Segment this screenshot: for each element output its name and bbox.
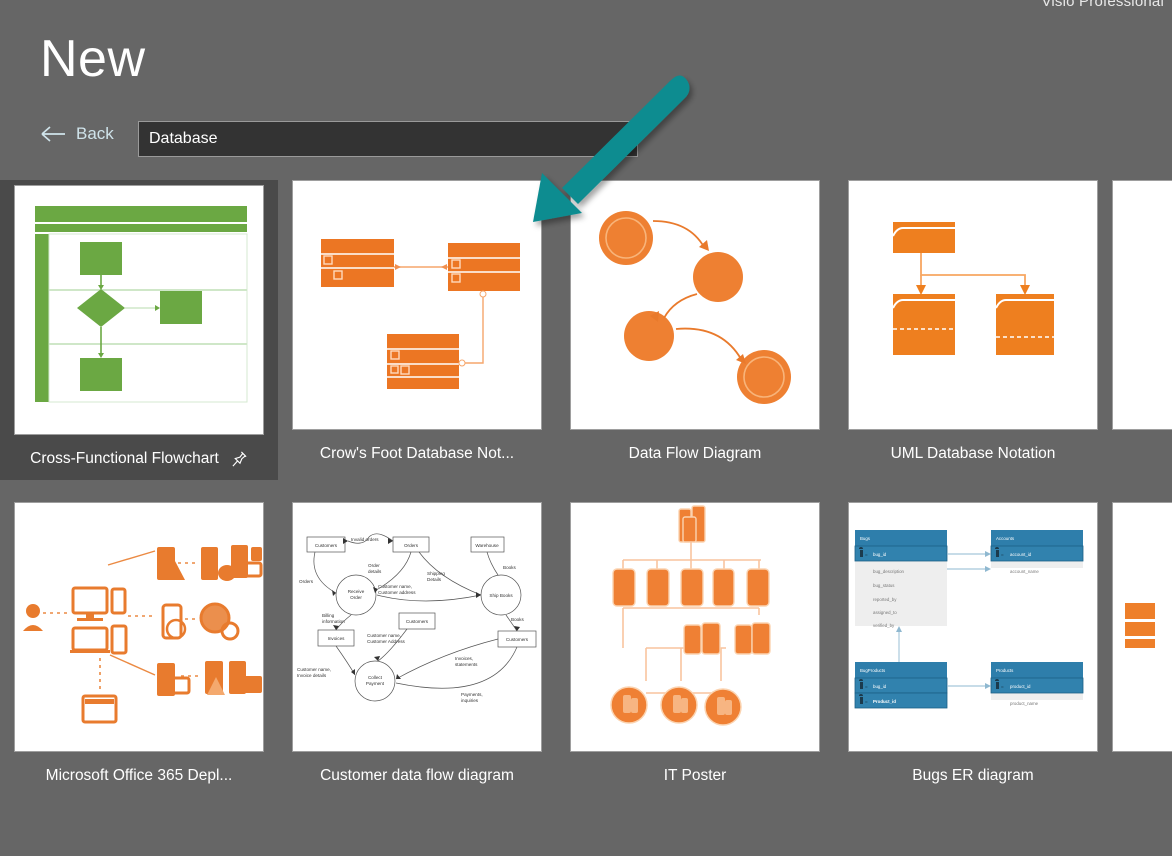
svg-text:Customers: Customers bbox=[406, 619, 429, 624]
svg-text:Shipping: Shipping bbox=[427, 571, 445, 576]
svg-text:Collect: Collect bbox=[368, 675, 383, 680]
svg-text:Customer address: Customer address bbox=[378, 590, 416, 595]
svg-text:account_id: account_id bbox=[1010, 552, 1032, 557]
svg-text:Books: Books bbox=[503, 565, 516, 570]
template-card-crows-foot-database-notation[interactable]: Crow's Foot Database Not... bbox=[278, 180, 556, 480]
svg-text:Customer name,: Customer name, bbox=[297, 667, 331, 672]
template-caption: Customer data flow diagram bbox=[320, 767, 514, 785]
svg-text:assigned_to: assigned_to bbox=[873, 610, 897, 615]
template-card-partial-row1[interactable] bbox=[1112, 180, 1172, 480]
template-card-it-poster[interactable]: IT Poster bbox=[556, 502, 834, 785]
template-card-customer-data-flow-diagram[interactable]: Customers Orders Warehouse Customers Inv… bbox=[278, 502, 556, 785]
template-card-uml-database-notation[interactable]: UML Database Notation bbox=[834, 180, 1112, 480]
svg-text:Orders: Orders bbox=[404, 543, 419, 548]
template-label: UML Database Notation bbox=[891, 445, 1056, 463]
search-input[interactable] bbox=[149, 130, 627, 148]
svg-text:inquiries: inquiries bbox=[461, 698, 479, 703]
template-label: IT Poster bbox=[664, 767, 727, 785]
template-label: Cross-Functional Flowchart bbox=[30, 450, 219, 468]
template-card-microsoft-office-365-deployment[interactable]: Microsoft Office 365 Depl... bbox=[0, 502, 278, 785]
svg-text:Invoices,: Invoices, bbox=[455, 656, 473, 661]
svg-text:Details: Details bbox=[427, 577, 442, 582]
svg-text:Invoice details: Invoice details bbox=[297, 673, 327, 678]
template-caption: IT Poster bbox=[664, 767, 727, 785]
pin-icon[interactable] bbox=[231, 451, 248, 468]
svg-text:∞: ∞ bbox=[865, 553, 868, 557]
svg-text:Books: Books bbox=[511, 617, 524, 622]
svg-text:Payments,: Payments, bbox=[461, 692, 483, 697]
cross-functional-flowchart-thumb bbox=[14, 185, 264, 435]
template-caption: Data Flow Diagram bbox=[629, 445, 762, 463]
uml-database-thumb bbox=[848, 180, 1098, 430]
app-label: Visio Professional bbox=[1041, 0, 1164, 10]
svg-text:Order: Order bbox=[350, 595, 362, 600]
template-label: Bugs ER diagram bbox=[912, 767, 1033, 785]
svg-text:bug_description: bug_description bbox=[873, 569, 905, 574]
office365-thumb bbox=[14, 502, 264, 752]
svg-text:Customers: Customers bbox=[506, 637, 529, 642]
svg-text:Product_id: Product_id bbox=[873, 699, 896, 704]
template-row-1: Cross-Functional Flowchart bbox=[0, 180, 1172, 480]
svg-text:bug_status: bug_status bbox=[873, 583, 895, 588]
template-label: Microsoft Office 365 Depl... bbox=[46, 767, 233, 785]
template-card-partial-row2[interactable] bbox=[1112, 502, 1172, 785]
arrow-left-icon bbox=[40, 124, 66, 144]
customer-data-flow-thumb: Customers Orders Warehouse Customers Inv… bbox=[292, 502, 542, 752]
template-row-2: Microsoft Office 365 Depl... bbox=[0, 502, 1172, 785]
bugs-er-thumb: Bugs bug_id bug_description bug_status r… bbox=[848, 502, 1098, 752]
svg-text:details: details bbox=[368, 569, 382, 574]
svg-text:Customer Address: Customer Address bbox=[367, 639, 405, 644]
template-label: Crow's Foot Database Not... bbox=[320, 445, 514, 463]
template-grid: Cross-Functional Flowchart bbox=[0, 180, 1172, 785]
svg-text:Ship Books: Ship Books bbox=[489, 593, 513, 598]
template-card-cross-functional-flowchart[interactable]: Cross-Functional Flowchart bbox=[0, 180, 278, 480]
template-caption: Cross-Functional Flowchart bbox=[30, 450, 248, 468]
it-poster-thumb bbox=[570, 502, 820, 752]
svg-text:bug_id: bug_id bbox=[873, 552, 887, 557]
svg-text:bug_id: bug_id bbox=[873, 684, 887, 689]
template-caption: Microsoft Office 365 Depl... bbox=[46, 767, 233, 785]
svg-text:product_name: product_name bbox=[1010, 701, 1039, 706]
svg-text:Customers: Customers bbox=[315, 543, 338, 548]
template-label: Data Flow Diagram bbox=[629, 445, 762, 463]
svg-text:Receive: Receive bbox=[348, 589, 365, 594]
back-label: Back bbox=[76, 124, 114, 144]
svg-text:Products: Products bbox=[996, 668, 1014, 673]
svg-text:verified_by: verified_by bbox=[873, 623, 895, 628]
svg-text:BugProducts: BugProducts bbox=[860, 668, 886, 673]
data-flow-thumb bbox=[570, 180, 820, 430]
svg-text:∞: ∞ bbox=[865, 685, 868, 689]
search-box[interactable] bbox=[138, 121, 638, 157]
svg-text:Warehouse: Warehouse bbox=[475, 543, 499, 548]
template-caption: UML Database Notation bbox=[891, 445, 1056, 463]
svg-text:product_id: product_id bbox=[1010, 684, 1031, 689]
svg-text:Orders: Orders bbox=[299, 579, 314, 584]
svg-text:Accounts: Accounts bbox=[996, 536, 1015, 541]
crows-foot-thumb bbox=[292, 180, 542, 430]
svg-text:Billing: Billing bbox=[322, 613, 335, 618]
svg-text:∞: ∞ bbox=[1001, 553, 1004, 557]
svg-text:∞: ∞ bbox=[865, 700, 868, 704]
partial-thumb-row1 bbox=[1112, 180, 1172, 430]
svg-text:statements: statements bbox=[455, 662, 478, 667]
partial-thumb-row2 bbox=[1112, 502, 1172, 752]
svg-text:Customer name,: Customer name, bbox=[378, 584, 412, 589]
svg-text:Invoices: Invoices bbox=[328, 636, 346, 641]
svg-text:Payment: Payment bbox=[366, 681, 385, 686]
svg-text:account_name: account_name bbox=[1010, 569, 1039, 574]
template-label: Customer data flow diagram bbox=[320, 767, 514, 785]
svg-text:Bugs: Bugs bbox=[860, 536, 871, 541]
template-caption: Crow's Foot Database Not... bbox=[320, 445, 514, 463]
svg-text:∞: ∞ bbox=[1001, 685, 1004, 689]
template-card-bugs-er-diagram[interactable]: Bugs bug_id bug_description bug_status r… bbox=[834, 502, 1112, 785]
svg-text:Customer name,: Customer name, bbox=[367, 633, 401, 638]
svg-text:reported_by: reported_by bbox=[873, 597, 897, 602]
template-caption: Bugs ER diagram bbox=[912, 767, 1033, 785]
page-title: New bbox=[40, 33, 146, 85]
back-button[interactable]: Back bbox=[40, 124, 114, 144]
template-card-data-flow-diagram[interactable]: Data Flow Diagram bbox=[556, 180, 834, 480]
svg-text:Order: Order bbox=[368, 563, 380, 568]
